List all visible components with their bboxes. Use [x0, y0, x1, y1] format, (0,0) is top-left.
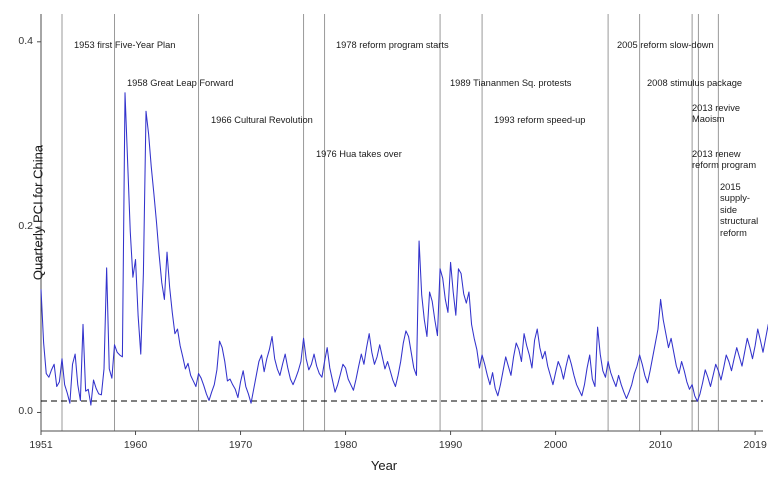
x-tick-label: 1980 — [316, 439, 376, 451]
y-tick-label: 0.0 — [0, 405, 33, 417]
chart-plot-area — [0, 0, 768, 480]
x-tick-label: 1990 — [421, 439, 481, 451]
x-axis-ticks — [41, 431, 755, 435]
event-annotation: 2015 supply- side structural reform — [720, 182, 758, 239]
event-annotation: 1953 first Five-Year Plan — [74, 40, 175, 51]
event-annotation: 1978 reform program starts — [336, 40, 449, 51]
x-axis-title: Year — [0, 458, 768, 473]
pci-series-line — [41, 93, 768, 405]
x-tick-label: 2000 — [526, 439, 586, 451]
event-vertical-lines — [62, 14, 718, 431]
y-tick-label: 0.2 — [0, 220, 33, 232]
event-annotation: 1966 Cultural Revolution — [211, 115, 313, 126]
event-annotation: 2013 renew reform program — [692, 149, 756, 172]
event-annotation: 2013 revive Maoism — [692, 103, 740, 126]
chart-figure: Quarterly PCI for China Year 0.00.20.4 1… — [0, 0, 768, 480]
event-annotation: 1993 reform speed-up — [494, 115, 585, 126]
event-annotation: 2005 reform slow-down — [617, 40, 714, 51]
x-tick-label: 2019 — [725, 439, 768, 451]
event-annotation: 2008 stimulus package — [647, 78, 742, 89]
event-annotation: 1958 Great Leap Forward — [127, 78, 233, 89]
axis-lines — [41, 14, 763, 431]
event-annotation: 1976 Hua takes over — [316, 149, 402, 160]
y-tick-label: 0.4 — [0, 35, 33, 47]
y-axis-title: Quarterly PCI for China — [31, 113, 46, 313]
event-annotation: 1989 Tiananmen Sq. protests — [450, 78, 571, 89]
x-tick-label: 2010 — [631, 439, 691, 451]
x-tick-label: 1960 — [106, 439, 166, 451]
x-tick-label: 1951 — [11, 439, 71, 451]
x-tick-label: 1970 — [211, 439, 271, 451]
